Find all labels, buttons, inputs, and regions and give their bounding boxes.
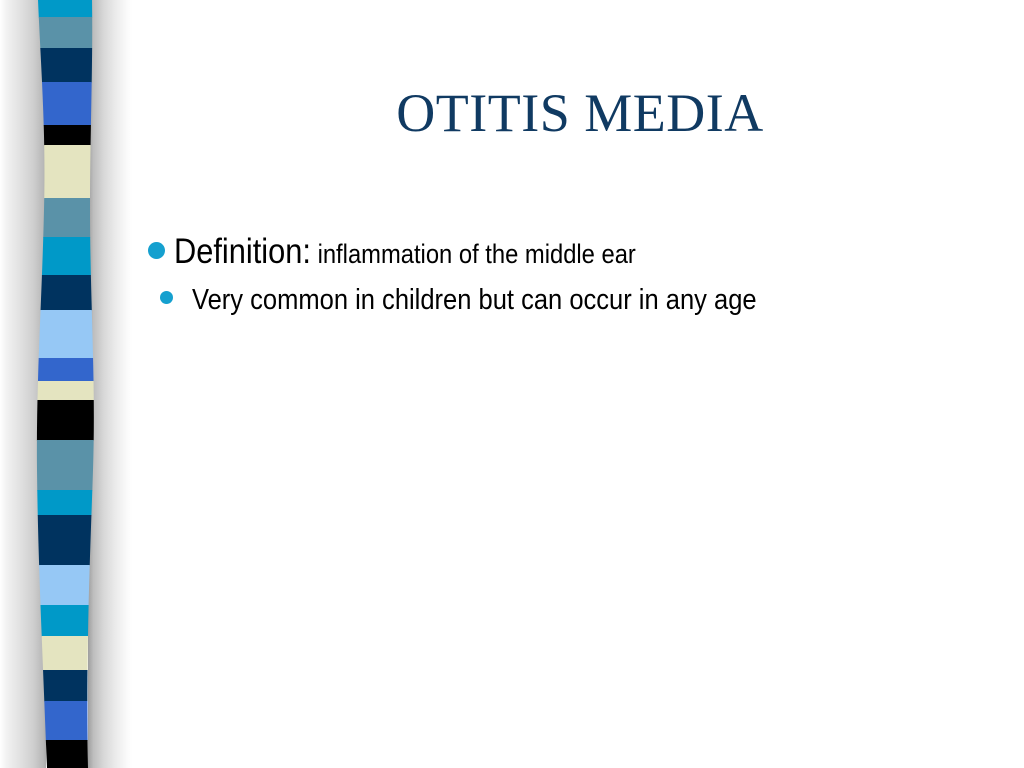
ribbon-band-17 xyxy=(30,605,104,637)
bullet-text: Very common in children but can occur in… xyxy=(192,278,757,322)
ribbon-band-7 xyxy=(30,237,104,276)
bullet-emphasis-text: Definition: xyxy=(174,232,311,271)
ribbon-stripes xyxy=(0,0,132,768)
ribbon-band-9 xyxy=(30,310,104,359)
ribbon-band-13 xyxy=(30,440,104,491)
ribbon-band-0 xyxy=(30,0,104,18)
bullet-point-icon xyxy=(148,242,165,259)
ribbon-band-20 xyxy=(30,701,104,741)
bullet-point-icon xyxy=(160,291,173,304)
bullet-body-text: inflammation of the middle ear xyxy=(311,239,636,269)
ribbon-band-11 xyxy=(30,381,104,401)
ribbon-band-21 xyxy=(30,740,104,768)
ribbon-band-14 xyxy=(30,490,104,516)
bullet-text: Definition: inflammation of the middle e… xyxy=(174,232,636,274)
ribbon-band-2 xyxy=(30,48,104,83)
bullet-list: Definition: inflammation of the middle e… xyxy=(148,232,988,322)
list-item: Definition: inflammation of the middle e… xyxy=(148,232,988,274)
ribbon-band-15 xyxy=(30,515,104,566)
ribbon-band-18 xyxy=(30,636,104,671)
ribbon-band-6 xyxy=(30,198,104,238)
page-title: OTITIS MEDIA xyxy=(180,82,980,144)
slide-canvas: OTITIS MEDIA Definition: inflammation of… xyxy=(0,0,1024,768)
ribbon-band-12 xyxy=(30,400,104,441)
ribbon-band-16 xyxy=(30,565,104,606)
decorative-ribbon xyxy=(0,0,132,768)
ribbon-band-5 xyxy=(30,145,104,199)
ribbon-band-8 xyxy=(30,275,104,311)
ribbon-band-19 xyxy=(30,670,104,702)
ribbon-band-3 xyxy=(30,82,104,126)
list-item: Very common in children but can occur in… xyxy=(160,278,988,322)
ribbon-band-1 xyxy=(30,17,104,49)
ribbon-band-4 xyxy=(30,125,104,146)
ribbon-band-10 xyxy=(30,358,104,382)
